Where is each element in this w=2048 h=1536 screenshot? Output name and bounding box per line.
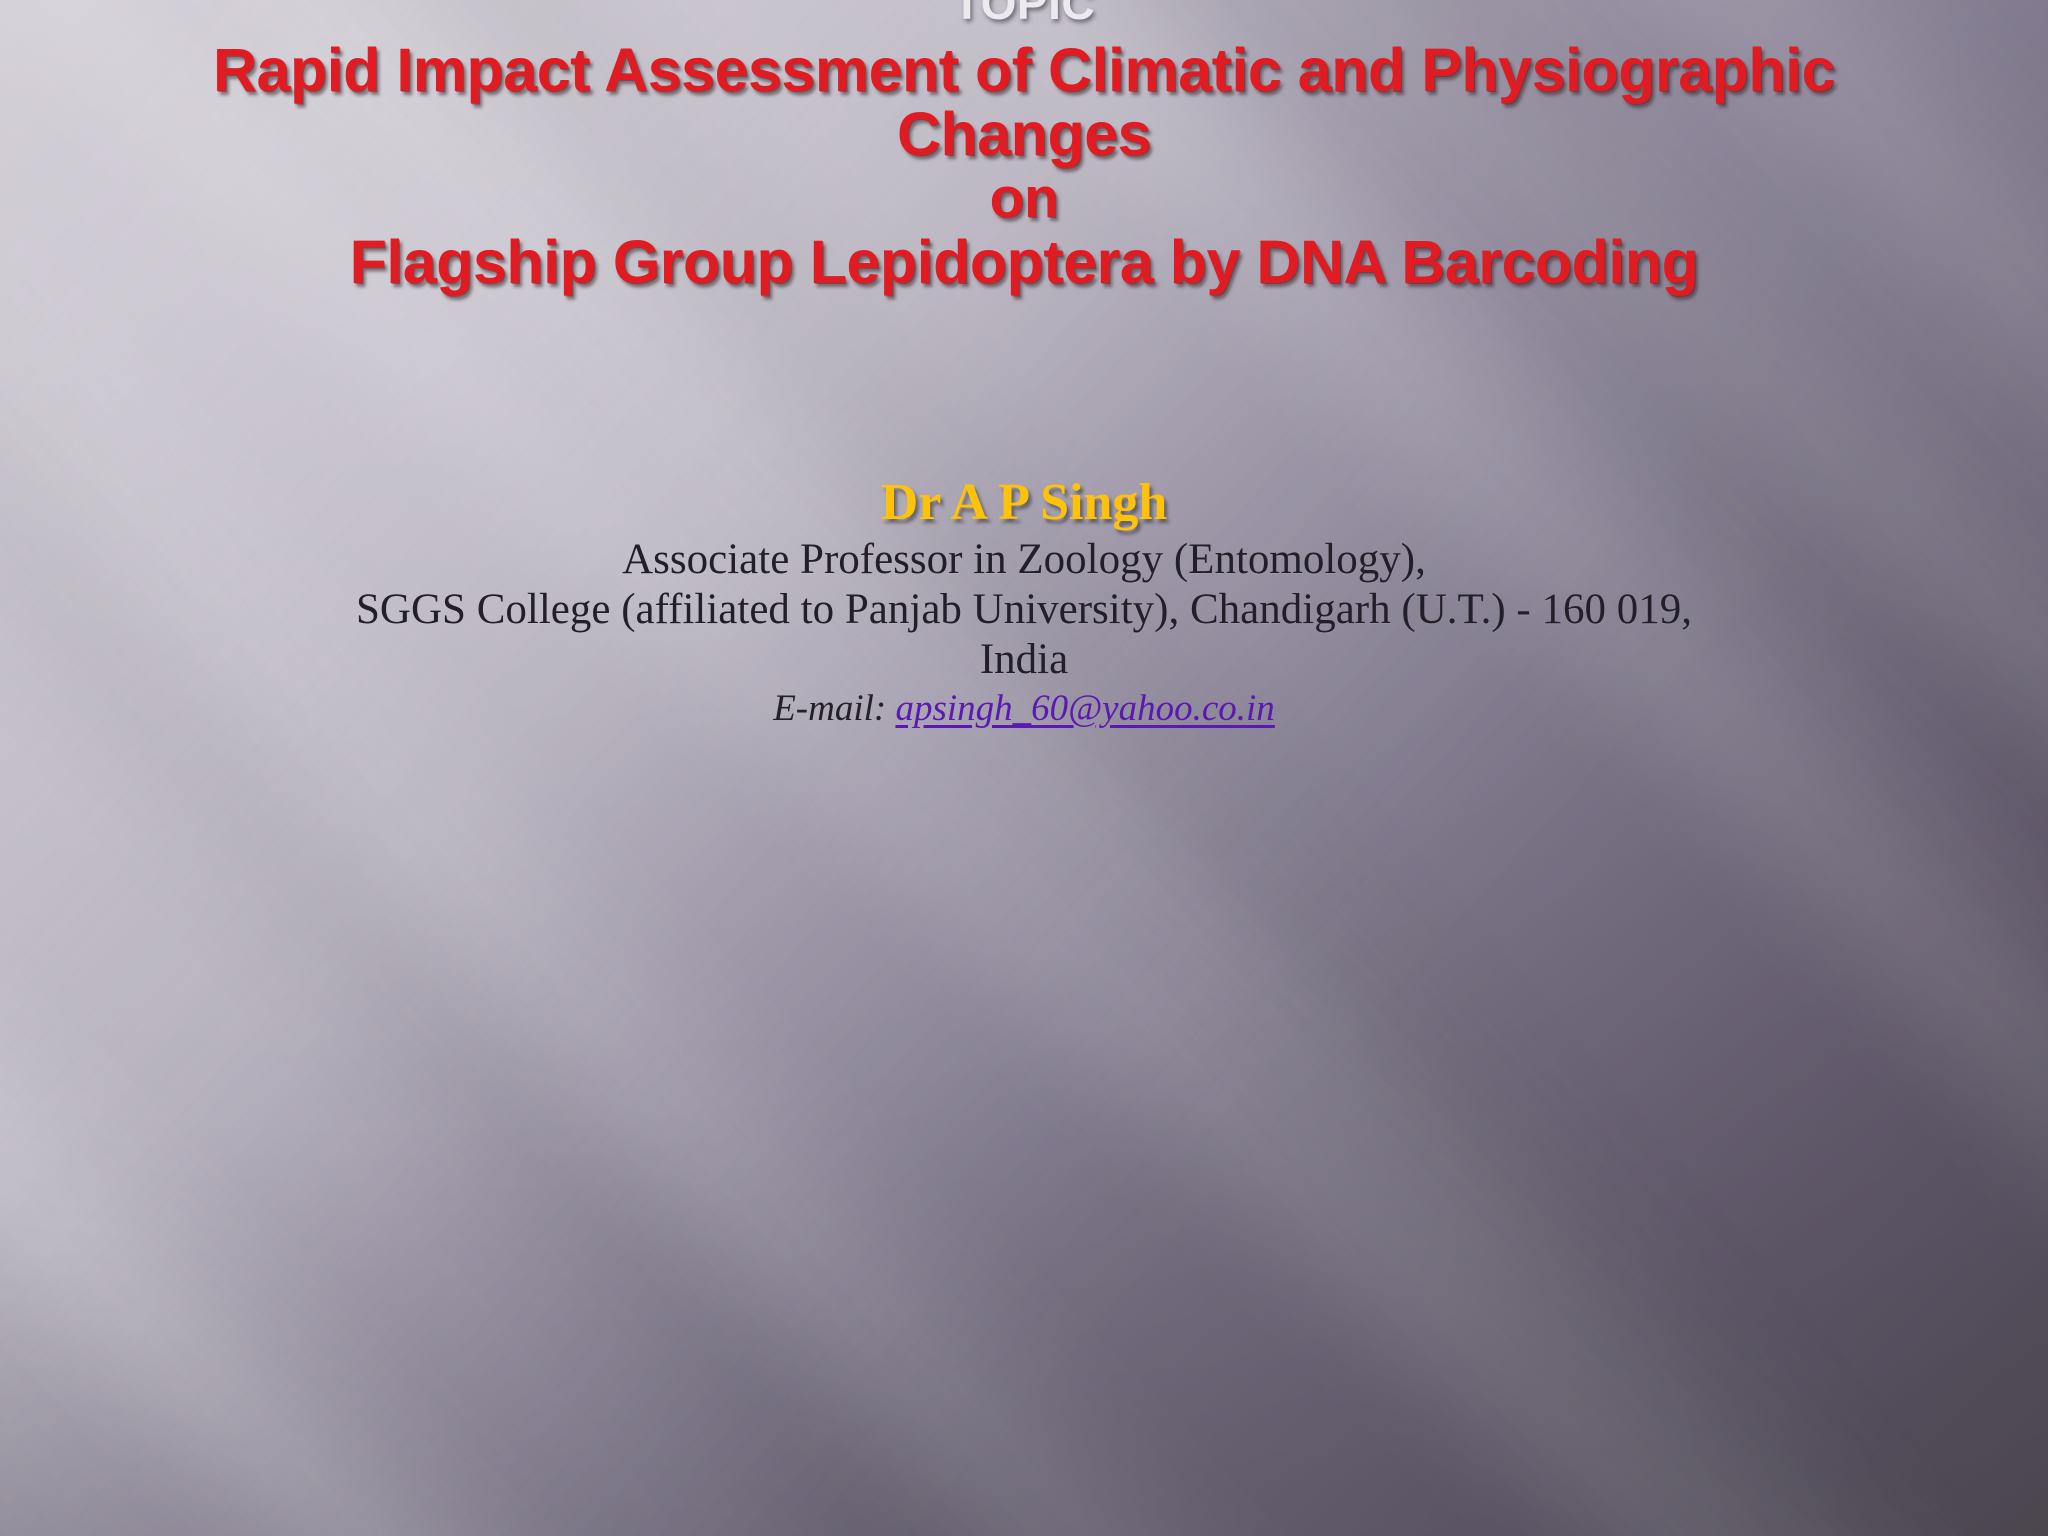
title-line-4: Flagship Group Lepidoptera by DNA Barcod… [60, 230, 1988, 294]
title-slide: TOPIC Rapid Impact Assessment of Climati… [0, 0, 2048, 1536]
affiliation-line-3: India [0, 635, 2048, 685]
email-label: E-mail: [773, 688, 886, 729]
author-affiliation: Associate Professor in Zoology (Entomolo… [0, 535, 2048, 685]
title-line-3: on [60, 166, 1988, 230]
presentation-title: Rapid Impact Assessment of Climatic and … [60, 38, 1988, 294]
email-line: E-mail: apsingh_60@yahoo.co.in [0, 687, 2048, 731]
topic-label: TOPIC [0, 0, 2048, 30]
title-line-2: Changes [60, 102, 1988, 166]
affiliation-line-1: Associate Professor in Zoology (Entomolo… [0, 535, 2048, 585]
author-name: Dr A P Singh [0, 475, 2048, 531]
affiliation-line-2: SGGS College (affiliated to Panjab Unive… [0, 585, 2048, 635]
email-link[interactable]: apsingh_60@yahoo.co.in [895, 688, 1274, 729]
title-line-1: Rapid Impact Assessment of Climatic and … [60, 38, 1988, 102]
slide-content: TOPIC Rapid Impact Assessment of Climati… [0, 0, 2048, 1536]
author-block: Dr A P Singh Associate Professor in Zool… [0, 475, 2048, 731]
